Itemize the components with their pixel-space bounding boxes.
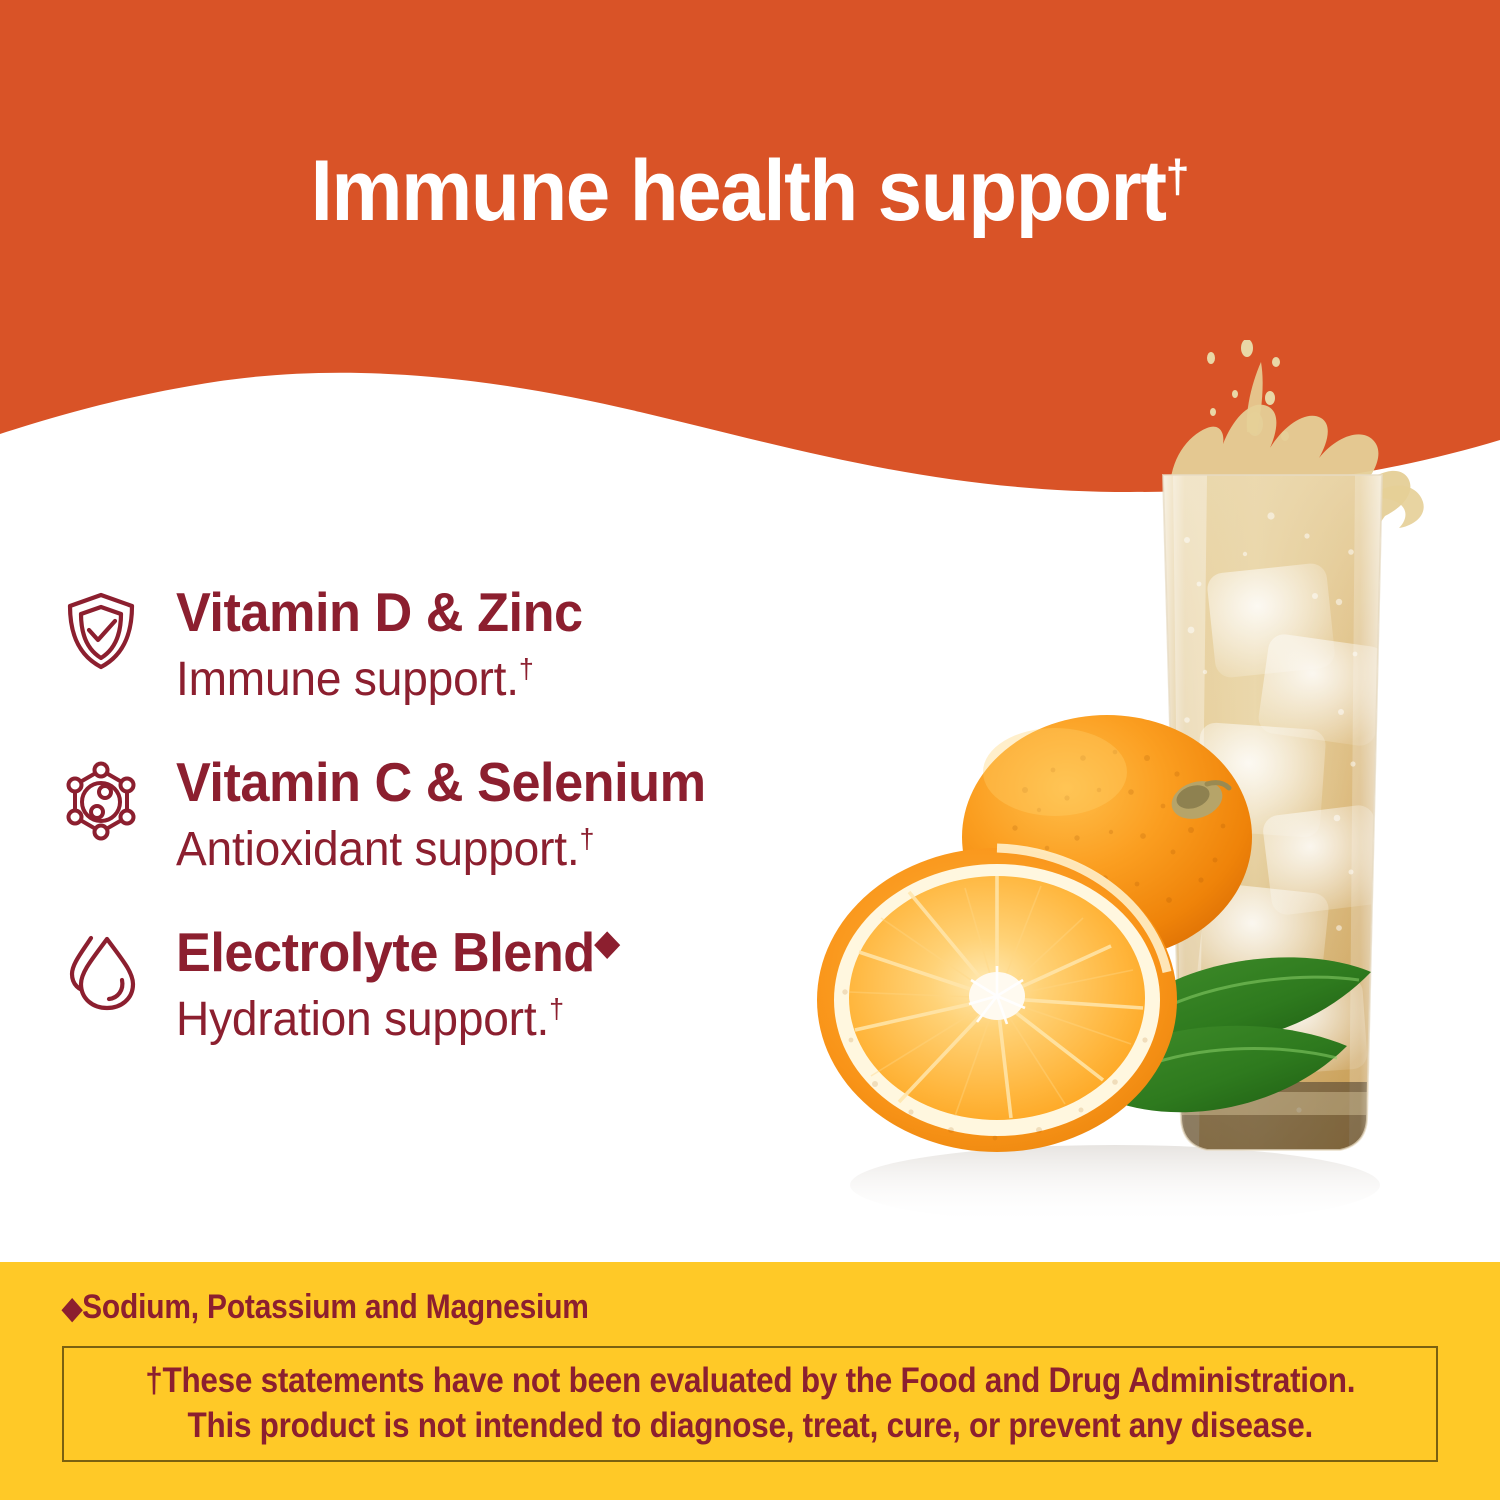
fda-disclaimer-line-1: †These statements have not been evaluate… — [145, 1359, 1355, 1404]
feature-subtitle-text: Antioxidant support. — [176, 823, 579, 876]
feature-subtitle-dagger: † — [549, 993, 564, 1024]
feature-item-electrolyte-blend: Electrolyte Blend◆ Hydration support.† — [58, 916, 858, 1086]
fda-disclaimer-box: †These statements have not been evaluate… — [62, 1346, 1438, 1462]
electrolyte-footnote: ◆Sodium, Potassium and Magnesium — [62, 1290, 589, 1324]
feature-title-diamond: ◆ — [595, 924, 620, 962]
feature-subtitle: Immune support.† — [176, 642, 831, 707]
feature-list: Vitamin D & Zinc Immune support.† — [58, 576, 858, 1086]
water-drop-icon — [62, 930, 140, 1012]
shield-check-icon — [62, 590, 140, 672]
page-title-text: Immune health support — [311, 143, 1166, 239]
fda-disclaimer-line-2: This product is not intended to diagnose… — [187, 1404, 1312, 1449]
page-title-dagger: † — [1166, 150, 1190, 202]
feature-subtitle-text: Hydration support. — [176, 993, 549, 1046]
product-photo — [815, 340, 1500, 1260]
feature-subtitle-dagger: † — [519, 653, 534, 684]
diamond-icon: ◆ — [62, 1292, 82, 1325]
page-title: Immune health support† — [53, 148, 1448, 234]
feature-title-text: Vitamin C & Selenium — [176, 751, 706, 813]
feature-item-vitamin-d-zinc: Vitamin D & Zinc Immune support.† — [58, 576, 858, 746]
feature-title: Electrolyte Blend◆ — [176, 916, 824, 982]
antioxidant-molecule-icon — [62, 760, 140, 842]
feature-item-vitamin-c-selenium: Vitamin C & Selenium Antioxidant support… — [58, 746, 858, 916]
halved-orange — [817, 848, 1177, 1152]
footer-disclaimer-band: ◆Sodium, Potassium and Magnesium †These … — [0, 1262, 1500, 1500]
feature-title-text: Electrolyte Blend — [176, 921, 595, 983]
feature-subtitle-text: Immune support. — [176, 653, 519, 706]
feature-subtitle: Antioxidant support.† — [176, 812, 831, 877]
feature-subtitle: Hydration support.† — [176, 982, 831, 1047]
feature-title: Vitamin C & Selenium — [176, 746, 824, 812]
product-info-panel: Immune health support† Vitamin D & Zinc … — [0, 0, 1500, 1500]
feature-title: Vitamin D & Zinc — [176, 576, 824, 642]
feature-subtitle-dagger: † — [579, 823, 594, 854]
feature-title-text: Vitamin D & Zinc — [176, 581, 583, 643]
electrolyte-footnote-text: Sodium, Potassium and Magnesium — [82, 1288, 589, 1326]
